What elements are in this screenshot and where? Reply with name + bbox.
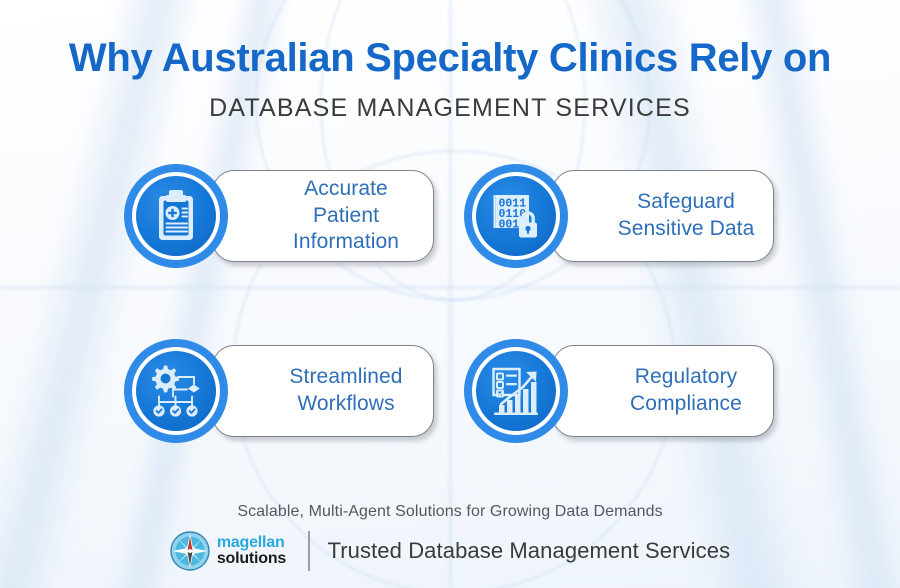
gear-workflow-icon (149, 365, 203, 417)
badge-inner-4 (472, 347, 560, 435)
card-label-2-line1: Safeguard (637, 190, 735, 213)
footer-brand-row: magellan solutions Trusted Database Mana… (0, 531, 900, 571)
clipboard-medical-icon (151, 190, 201, 242)
card-pill-1[interactable]: Accurate Patient Information (212, 170, 434, 262)
card-label-1-line1: Accurate Patient (304, 177, 388, 227)
logo-solutions: solutions (217, 551, 286, 567)
card-pill-4[interactable]: Regulatory Compliance (552, 345, 774, 437)
logo-magellan: magellan (217, 535, 286, 551)
card-label-4-line2: Compliance (630, 392, 742, 415)
card-label-1-line2: Information (293, 230, 399, 253)
decision-diamond-icon (188, 385, 200, 393)
magellan-logo[interactable]: magellan solutions (170, 531, 286, 571)
card-safeguard-sensitive-data[interactable]: Safeguard Sensitive Data 0011 0110 (464, 164, 774, 268)
badge-core-1 (136, 176, 216, 256)
badge-core-4 (476, 351, 556, 431)
binary-row-3: 001 (499, 219, 520, 232)
card-badge-4[interactable] (464, 339, 568, 443)
card-badge-2[interactable]: 0011 0110 001 (464, 164, 568, 268)
card-label-1: Accurate Patient Information (213, 176, 433, 257)
card-label-2-line2: Sensitive Data (618, 217, 755, 240)
footer-claim: Trusted Database Management Services (328, 538, 731, 564)
magellan-logo-text: magellan solutions (217, 535, 286, 568)
workflow-checks (153, 405, 197, 416)
badge-core-3 (136, 351, 216, 431)
card-pill-3[interactable]: Streamlined Workflows (212, 345, 434, 437)
binary-lock-icon: 0011 0110 001 (490, 190, 542, 242)
card-label-2: Safeguard Sensitive Data (556, 189, 771, 243)
card-label-3-line2: Workflows (297, 392, 394, 415)
checklist-growth-chart-icon (490, 365, 542, 417)
card-label-3: Streamlined Workflows (227, 364, 418, 418)
footer-divider (308, 531, 309, 571)
card-badge-1[interactable] (124, 164, 228, 268)
card-pill-2[interactable]: Safeguard Sensitive Data (552, 170, 774, 262)
card-badge-3[interactable] (124, 339, 228, 443)
badge-inner-3 (132, 347, 220, 435)
card-label-4-line1: Regulatory (635, 365, 738, 388)
card-accurate-patient-information[interactable]: Accurate Patient Information (124, 164, 434, 268)
badge-core-2: 0011 0110 001 (476, 176, 556, 256)
footer-tagline: Scalable, Multi-Agent Solutions for Grow… (0, 503, 900, 521)
card-grid: Accurate Patient Information (0, 0, 900, 588)
card-label-4: Regulatory Compliance (568, 364, 758, 418)
card-streamlined-workflows[interactable]: Streamlined Workflows (124, 339, 434, 443)
card-label-3-line1: Streamlined (289, 365, 402, 388)
compass-icon (170, 531, 210, 571)
footer: Scalable, Multi-Agent Solutions for Grow… (0, 503, 900, 571)
badge-inner-1 (132, 172, 220, 260)
card-regulatory-compliance[interactable]: Regulatory Compliance (464, 339, 774, 443)
bar-chart-icon (494, 382, 538, 415)
infographic-canvas: Why Australian Specialty Clinics Rely on… (0, 0, 900, 588)
badge-inner-2: 0011 0110 001 (472, 172, 560, 260)
